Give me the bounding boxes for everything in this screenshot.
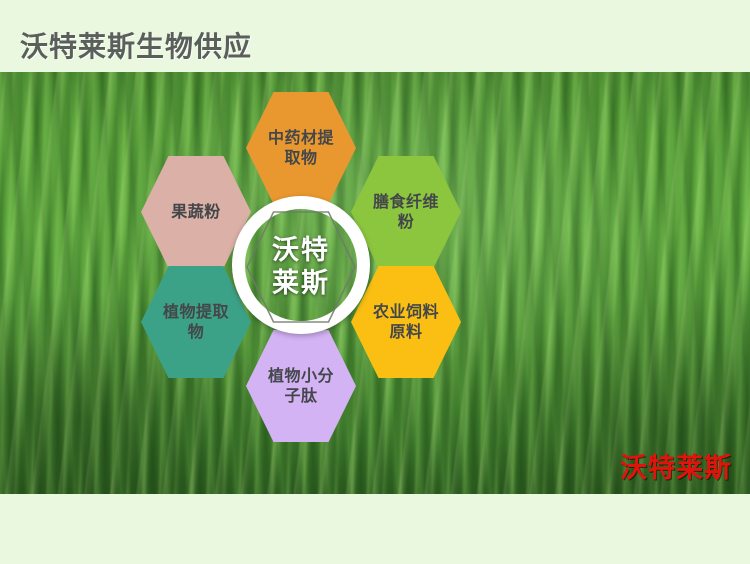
hex-node-bottom[interactable]: 植物小分子肽 [246,330,356,442]
center-hub[interactable]: 沃特莱斯 [246,211,356,323]
hex-node-top[interactable]: 中药材提取物 [246,92,356,204]
hexagon-cluster-diagram: 中药材提取物 果蔬粉 膳食纤维粉 植物提取物 农业饲料原料 植物小分子肽 [0,72,750,494]
hex-node-top-label: 中药材提取物 [264,128,338,169]
page-title: 沃特莱斯生物供应 [20,25,252,65]
hex-node-top-right-label: 膳食纤维粉 [369,192,443,233]
hex-node-bottom-label: 植物小分子肽 [264,366,338,407]
grass-field-photo: 中药材提取物 果蔬粉 膳食纤维粉 植物提取物 农业饲料原料 植物小分子肽 [0,72,750,494]
header-band: 沃特莱斯生物供应 [0,0,750,72]
center-brand-label: 沃特莱斯 [266,234,336,301]
footer-band [0,494,750,564]
hex-node-bottom-left-label: 植物提取物 [159,302,233,343]
slide-canvas: 沃特莱斯生物供应 中药材提取物 果蔬粉 膳食纤维粉 植物提取物 农业饲料原料 [0,0,750,564]
hex-node-top-left-label: 果蔬粉 [159,202,233,222]
hex-node-bottom-right-label: 农业饲料原料 [369,302,443,343]
brand-watermark: 沃特莱斯 [620,454,732,484]
